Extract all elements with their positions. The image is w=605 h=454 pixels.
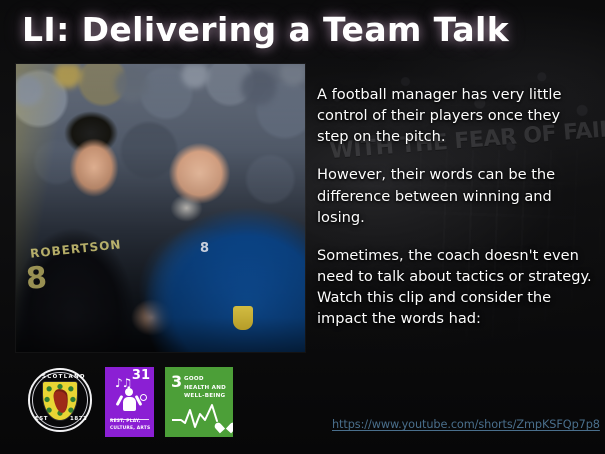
sfa-top-text: SCOTLAND	[42, 374, 86, 380]
paragraph-2: However, their words can be the differen…	[317, 164, 595, 227]
slide: WITH THE FEAR OF FAILURE. PLAY LI: Deliv…	[0, 0, 605, 454]
photo-shading	[16, 64, 305, 352]
uncrc-label: REST, PLAY, CULTURE, ARTS	[110, 419, 151, 432]
person-celebrating-icon	[118, 388, 140, 414]
player-kit-number: 8	[25, 260, 48, 296]
scottish-fa-badge-icon: SCOTLAND EST 1873	[26, 366, 94, 438]
sdg-title: GOOD HEALTH AND WELL-BEING	[184, 375, 230, 401]
paragraph-1: A football manager has very little contr…	[317, 84, 595, 147]
figure-head	[125, 388, 133, 396]
ball-icon	[140, 394, 147, 401]
uncrc-article-31-card: 31 ♪♫ REST, PLAY, CULTURE, ARTS	[105, 367, 154, 437]
sdg-number: 3	[171, 374, 182, 390]
page-title: LI: Delivering a Team Talk	[22, 11, 582, 49]
paragraph-3: Sometimes, the coach doesn't even need t…	[317, 245, 595, 330]
manager-crest-icon	[233, 306, 253, 330]
sfa-shield-icon	[42, 381, 78, 421]
figure-body	[123, 397, 136, 411]
youtube-link[interactable]: https://www.youtube.com/shorts/ZmpKSFQp7…	[332, 418, 600, 431]
logo-strip: SCOTLAND EST 1873 31 ♪♫ REST, PLAY, CULT…	[26, 366, 233, 438]
body-copy: A football manager has very little contr…	[317, 84, 595, 330]
sdg-3-card: 3 GOOD HEALTH AND WELL-BEING	[165, 367, 233, 437]
uncrc-article-number: 31	[132, 369, 150, 382]
manager-number: 8	[200, 241, 209, 256]
heart-icon	[219, 421, 232, 433]
team-talk-photo: ROBERTSON 8 8	[16, 64, 305, 352]
